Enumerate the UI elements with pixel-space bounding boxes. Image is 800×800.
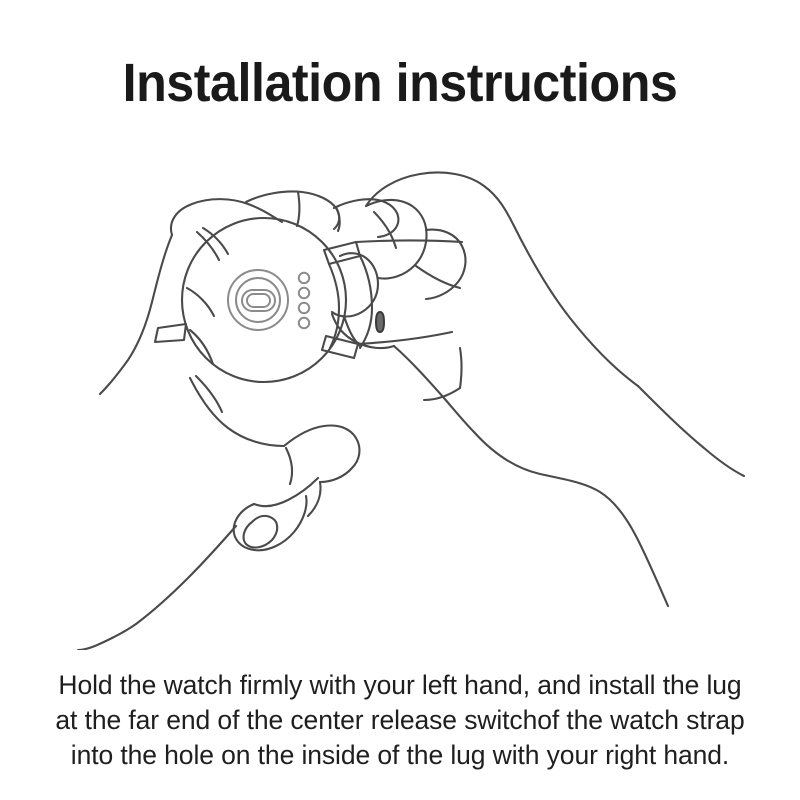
watch-sensor-window-inner [247,294,270,307]
caption: Hold the watch firmly with your left han… [0,668,800,773]
watch-charging-pin-2 [299,288,309,298]
right-forearm-upper-edge [474,432,668,606]
left-hand-crease-3 [187,288,214,316]
left-hand-thumb-segment-1 [254,478,318,506]
page-title: Installation instructions [28,52,772,114]
left-hand-crease-2 [197,232,219,260]
left-hand-thumbnail [244,516,278,548]
right-hand-outline [366,173,638,387]
illustration-container [0,130,800,650]
right-hand-middle-finger-crease [424,388,460,400]
caption-line-3: into the hole on the inside of the lug w… [0,738,800,773]
watch-lug-left [155,324,186,342]
left-hand-knuckle-edge [100,235,172,394]
left-hand-thumb-segment-2 [308,482,321,516]
caption-line-2: at the far end of the center release swi… [0,703,800,738]
left-hand-thumb-joint-line [286,448,292,484]
left-hand-thumb [284,426,359,483]
left-forearm-edge [112,526,236,638]
strap-release-switch [376,312,384,332]
left-hand-finger-middle [297,192,299,226]
caption-line-1: Hold the watch firmly with your left han… [0,668,800,703]
watch-charging-pin-4 [299,318,309,328]
watch-strap-installation-diagram [0,130,800,650]
watch-charging-pin-1 [299,273,309,283]
left-hand-crease-4 [190,330,213,364]
right-hand-index-nail-edge [460,348,462,388]
installation-instructions-page: Installation instructions [0,0,800,800]
watch-charging-pin-3 [299,303,309,313]
left-forearm-lower-edge [78,638,112,650]
watch-case [182,218,346,382]
watch-strap-bottom-edge [358,332,452,344]
left-hand-palm-lower-edge [190,378,284,446]
right-hand-knuckle-line [416,266,460,288]
right-forearm-outer-edge [638,386,744,476]
watch-strap-top-edge [356,241,462,243]
watch-strap-lug-end [360,256,372,348]
